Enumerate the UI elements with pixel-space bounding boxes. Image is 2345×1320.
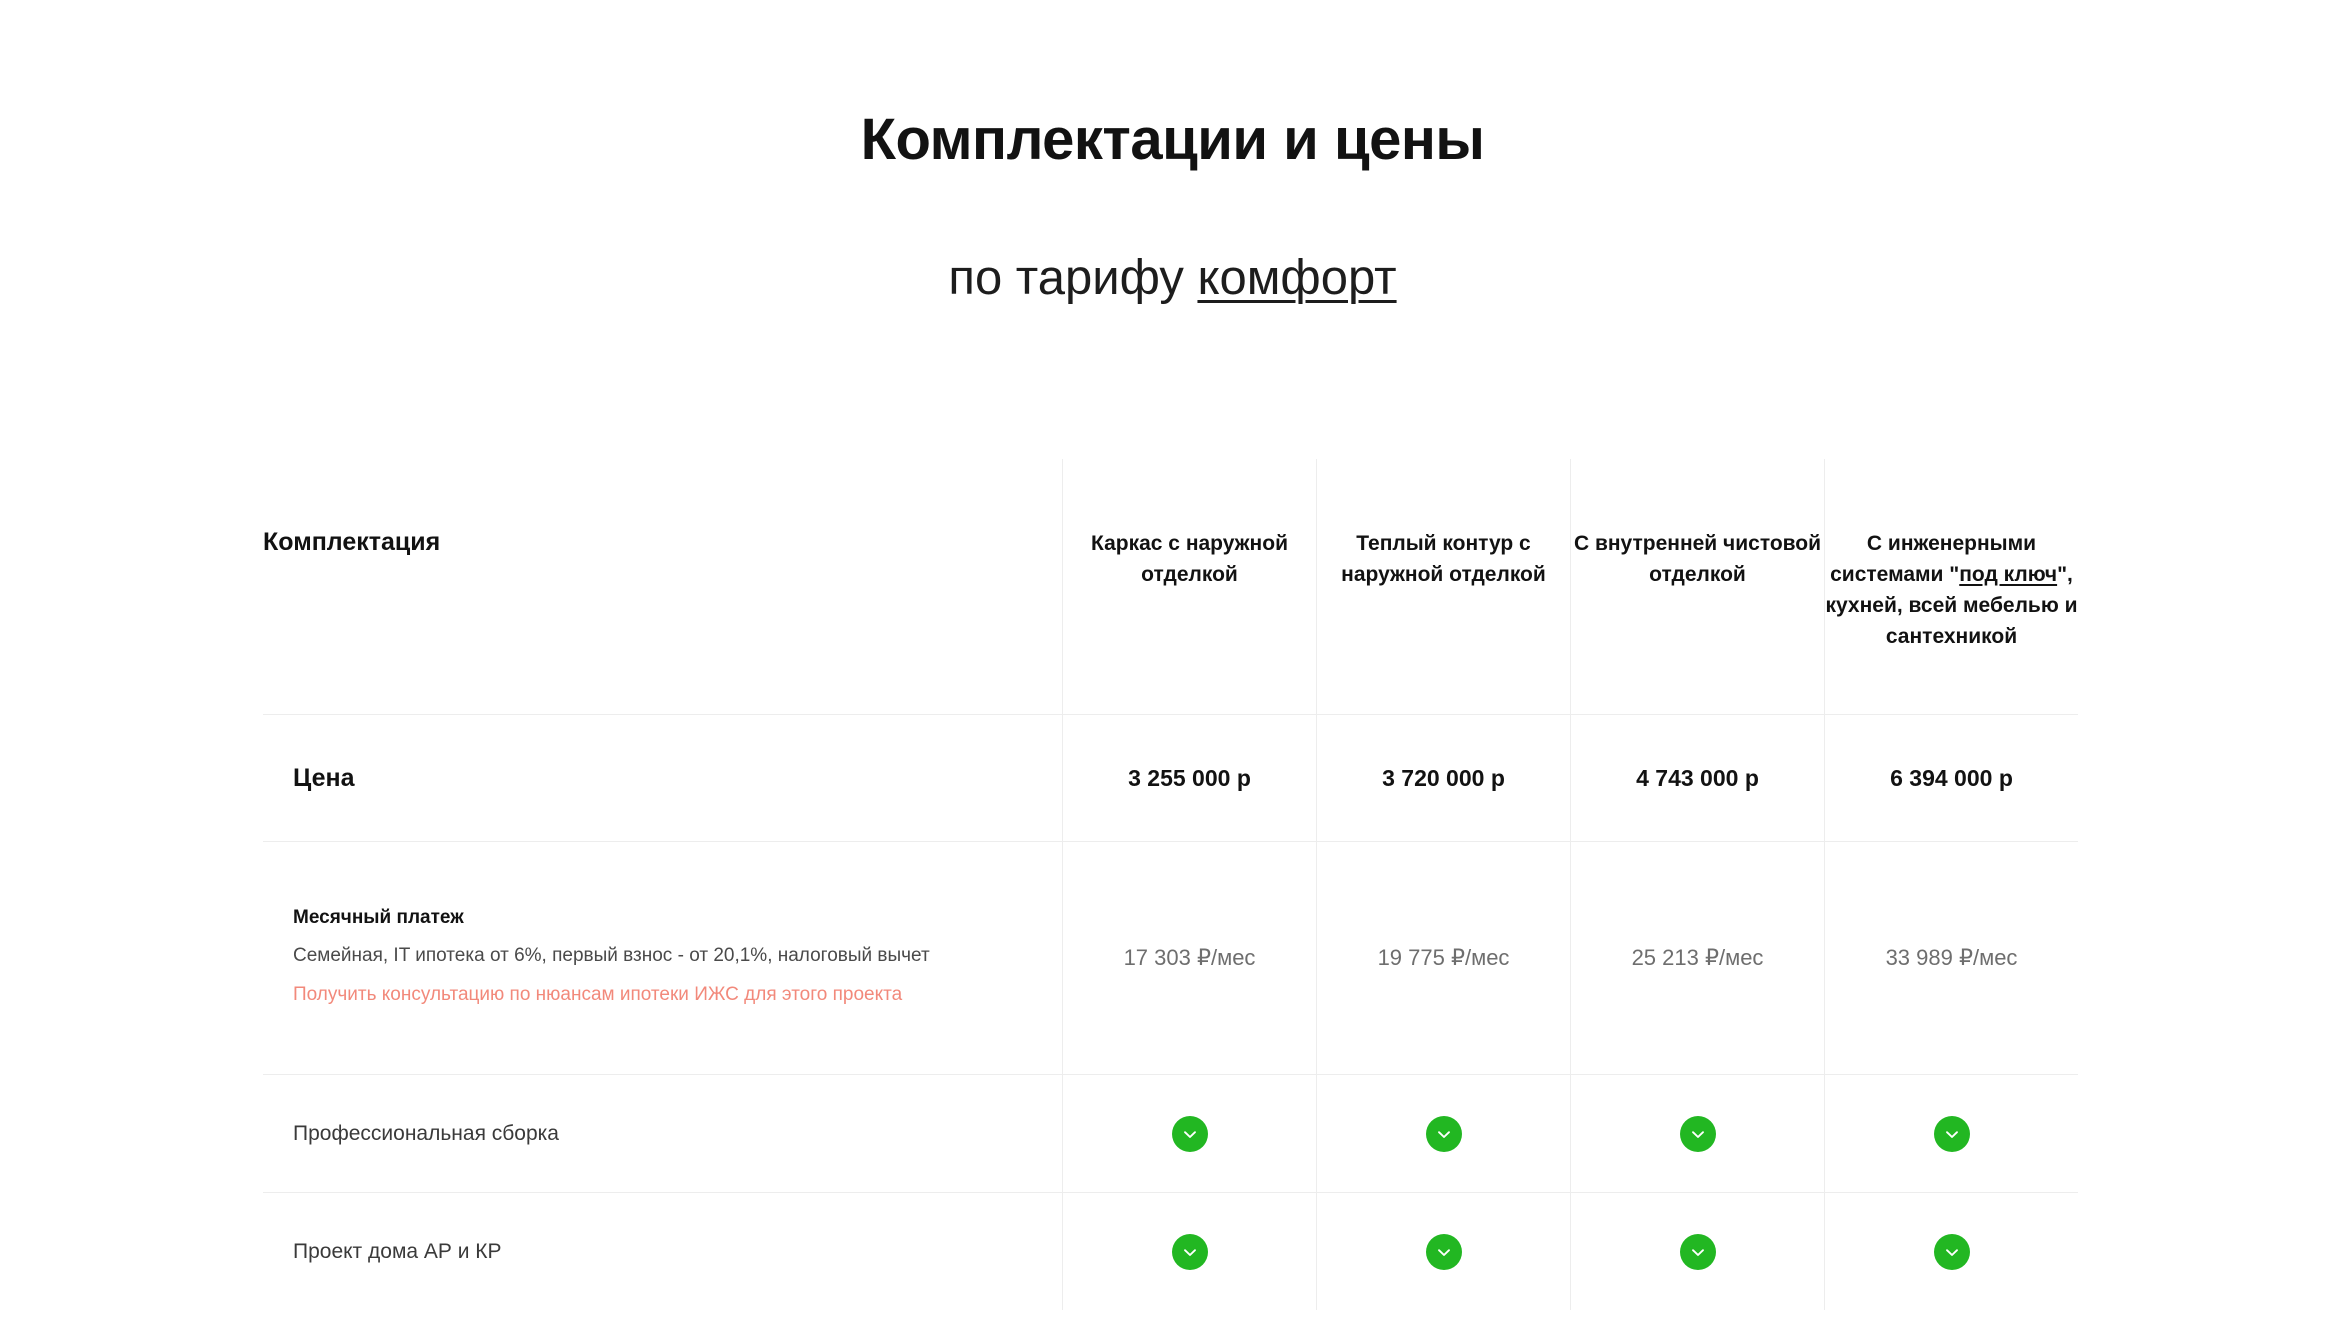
- check-icon: [1172, 1234, 1208, 1270]
- page-heading-block: Комплектации и цены по тарифу комфорт: [0, 0, 2345, 306]
- feature-cell-warm-contour: [1317, 1075, 1571, 1193]
- price-value-warm-contour: 3 720 000 р: [1317, 715, 1571, 842]
- price-value-interior-finish: 4 743 000 р: [1571, 715, 1825, 842]
- column-header-turnkey-label: С инженерными системами "под ключ", кухн…: [1825, 459, 2078, 652]
- check-icon: [1172, 1116, 1208, 1152]
- header-cell-warm-contour: Теплый контур с наружной отделкой: [1317, 459, 1571, 715]
- feature-cell-turnkey: [1825, 1075, 2079, 1193]
- mortgage-consultation-link[interactable]: Получить консультацию по нюансам ипотеки…: [293, 972, 1032, 1009]
- header-cell-turnkey: С инженерными системами "под ключ", кухн…: [1825, 459, 2079, 715]
- page-subtitle: по тарифу комфорт: [0, 173, 2345, 306]
- row-label-monthly-payment: Месячный платеж Семейная, IT ипотека от …: [263, 842, 1063, 1075]
- monthly-payment-description: Семейная, IT ипотека от 6%, первый взнос…: [293, 941, 1032, 972]
- page-title: Комплектации и цены: [0, 108, 2345, 173]
- check-icon: [1426, 1116, 1462, 1152]
- monthly-payment-interior-finish: 25 213 ₽/мес: [1571, 842, 1825, 1075]
- monthly-payment-frame: 17 303 ₽/мес: [1063, 842, 1317, 1075]
- subtitle-tariff-link[interactable]: комфорт: [1197, 251, 1396, 305]
- column-header-warm-contour-label: Теплый контур с наружной отделкой: [1317, 459, 1570, 591]
- feature-cell-turnkey: [1825, 1193, 2079, 1311]
- table-row-monthly-payment: Месячный платеж Семейная, IT ипотека от …: [263, 842, 2079, 1075]
- row-label-professional-assembly: Профессиональная сборка: [263, 1075, 1063, 1193]
- feature-cell-frame: [1063, 1075, 1317, 1193]
- check-icon: [1426, 1234, 1462, 1270]
- table-row-price: Цена 3 255 000 р 3 720 000 р 4 743 000 р…: [263, 715, 2079, 842]
- header-cell-label: Комплектация: [263, 459, 1063, 715]
- price-value-turnkey: 6 394 000 р: [1825, 715, 2079, 842]
- pricing-table-wrapper: Комплектация Каркас с наружной отделкой …: [262, 458, 2078, 1311]
- header-cell-interior-finish: С внутренней чистовой отделкой: [1571, 459, 1825, 715]
- table-row-professional-assembly: Профессиональная сборка: [263, 1075, 2079, 1193]
- feature-cell-interior-finish: [1571, 1075, 1825, 1193]
- table-row-house-project: Проект дома АР и КР: [263, 1193, 2079, 1311]
- pricing-table: Комплектация Каркас с наружной отделкой …: [262, 458, 2079, 1311]
- feature-cell-interior-finish: [1571, 1193, 1825, 1311]
- feature-cell-warm-contour: [1317, 1193, 1571, 1311]
- check-icon: [1680, 1234, 1716, 1270]
- check-icon: [1680, 1116, 1716, 1152]
- turnkey-label-link[interactable]: под ключ: [1959, 563, 2057, 586]
- header-cell-frame: Каркас с наружной отделкой: [1063, 459, 1317, 715]
- monthly-payment-title: Месячный платеж: [293, 907, 1032, 941]
- row-label-house-project: Проект дома АР и КР: [263, 1193, 1063, 1311]
- subtitle-prefix: по тарифу: [948, 251, 1197, 305]
- check-icon: [1934, 1234, 1970, 1270]
- pricing-page: Комплектации и цены по тарифу комфорт Ко…: [0, 0, 2345, 1320]
- monthly-payment-turnkey: 33 989 ₽/мес: [1825, 842, 2079, 1075]
- feature-cell-frame: [1063, 1193, 1317, 1311]
- check-icon: [1934, 1116, 1970, 1152]
- price-value-frame: 3 255 000 р: [1063, 715, 1317, 842]
- table-header-row: Комплектация Каркас с наружной отделкой …: [263, 459, 2079, 715]
- column-header-frame-label: Каркас с наружной отделкой: [1063, 459, 1316, 591]
- monthly-payment-warm-contour: 19 775 ₽/мес: [1317, 842, 1571, 1075]
- row-label-price: Цена: [263, 715, 1063, 842]
- column-header-komplektaciya: Комплектация: [263, 459, 1062, 557]
- column-header-interior-finish-label: С внутренней чистовой отделкой: [1571, 459, 1824, 591]
